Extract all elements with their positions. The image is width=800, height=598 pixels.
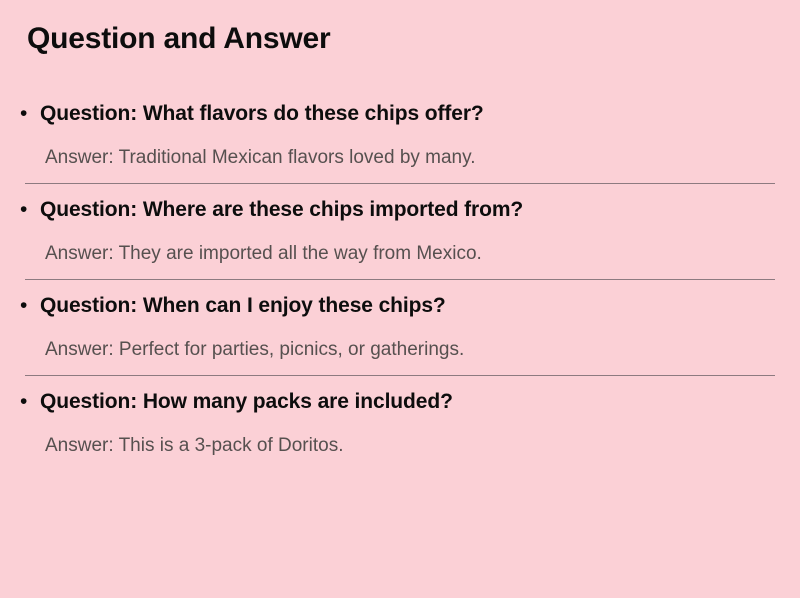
- qa-block: • Question: How many packs are included?…: [0, 376, 800, 471]
- qa-question-row: • Question: When can I enjoy these chips…: [0, 280, 800, 321]
- qa-question-row: • Question: Where are these chips import…: [0, 184, 800, 225]
- qa-list: • Question: What flavors do these chips …: [0, 88, 800, 471]
- bullet-icon: •: [20, 291, 40, 321]
- qa-block: • Question: Where are these chips import…: [0, 184, 800, 280]
- qa-question-text: Question: How many packs are included?: [40, 387, 453, 417]
- qa-slide: Question and Answer • Question: What fla…: [0, 0, 800, 598]
- bullet-icon: •: [20, 99, 40, 129]
- qa-question-row: • Question: How many packs are included?: [0, 376, 800, 417]
- qa-question-row: • Question: What flavors do these chips …: [0, 88, 800, 129]
- bullet-icon: •: [20, 195, 40, 225]
- qa-question-text: Question: What flavors do these chips of…: [40, 99, 484, 129]
- bullet-icon: •: [20, 387, 40, 417]
- qa-answer-text: Answer: Traditional Mexican flavors love…: [0, 129, 800, 183]
- page-title: Question and Answer: [27, 20, 330, 58]
- qa-answer-text: Answer: Perfect for parties, picnics, or…: [0, 321, 800, 375]
- qa-answer-text: Answer: This is a 3-pack of Doritos.: [0, 417, 800, 471]
- qa-block: • Question: When can I enjoy these chips…: [0, 280, 800, 376]
- qa-block: • Question: What flavors do these chips …: [0, 88, 800, 184]
- qa-question-text: Question: Where are these chips imported…: [40, 195, 523, 225]
- qa-question-text: Question: When can I enjoy these chips?: [40, 291, 446, 321]
- qa-answer-text: Answer: They are imported all the way fr…: [0, 225, 800, 279]
